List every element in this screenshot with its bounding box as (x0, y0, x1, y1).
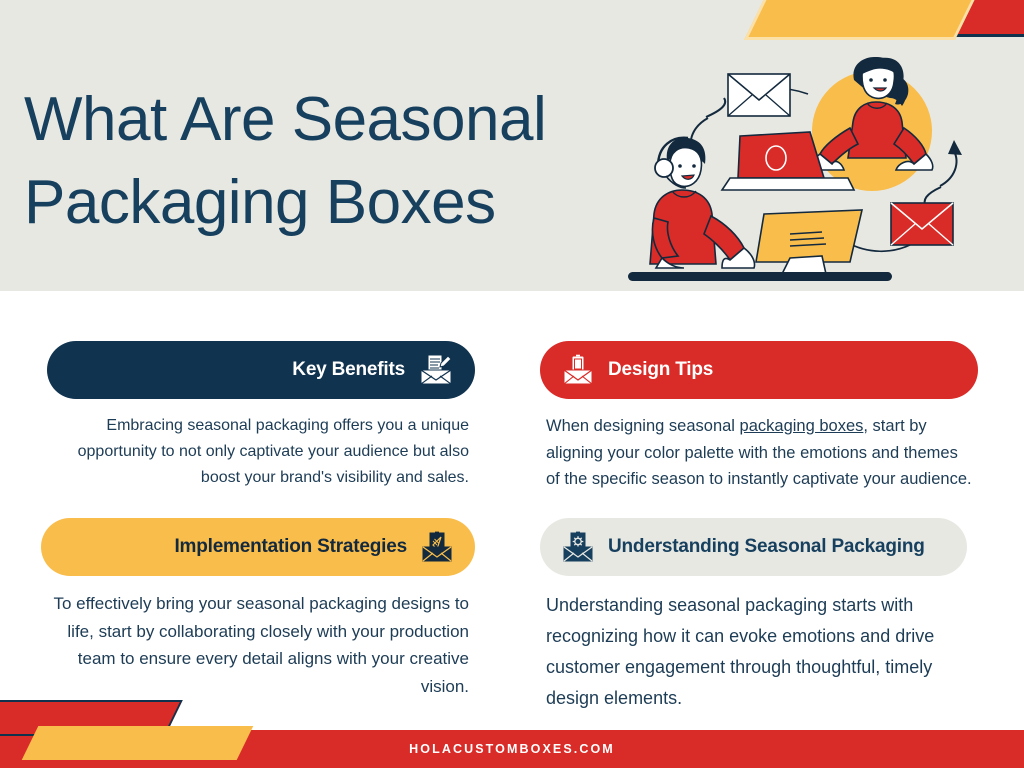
card-key-benefits-body: Embracing seasonal packaging offers you … (47, 413, 475, 491)
card-understanding-seasonal-packaging-body: Understanding seasonal packaging starts … (540, 590, 967, 714)
card-understanding-seasonal-packaging: Understanding Seasonal Packaging Underst… (540, 518, 967, 714)
card-implementation-strategies-title: Implementation Strategies (174, 536, 407, 558)
infographic-canvas: What Are Seasonal Packaging Boxes (0, 0, 1024, 768)
envelope-with-tag-icon (421, 531, 453, 563)
card-key-benefits-title: Key Benefits (292, 359, 405, 381)
card-key-benefits: Key Benefits Embracing seasonal packagin… (47, 341, 475, 491)
card-implementation-strategies-header[interactable]: Implementation Strategies (41, 518, 475, 576)
envelope-with-mobile-device-icon (562, 354, 594, 386)
card-understanding-seasonal-packaging-title: Understanding Seasonal Packaging (608, 536, 925, 558)
card-key-benefits-header[interactable]: Key Benefits (47, 341, 475, 399)
footer-website-text: HOLACUSTOMBOXES.COM (409, 742, 615, 756)
page-title: What Are Seasonal Packaging Boxes (24, 78, 674, 244)
card-design-tips-header[interactable]: Design Tips (540, 341, 978, 399)
card-design-tips-body: When designing seasonal packaging boxes,… (540, 413, 978, 493)
card-implementation-strategies: Implementation Strategies To effectively… (41, 518, 475, 700)
bottom-left-yellow-parallelogram-decoration (22, 726, 254, 760)
card-design-tips-title: Design Tips (608, 359, 713, 381)
design-tips-body-before: When designing seasonal (546, 417, 740, 435)
envelope-with-document-and-pencil-icon (419, 354, 453, 386)
card-design-tips: Design Tips When designing seasonal pack… (540, 341, 978, 493)
envelope-with-gear-icon (562, 531, 594, 563)
packaging-boxes-link[interactable]: packaging boxes (740, 417, 864, 435)
card-implementation-strategies-body: To effectively bring your seasonal packa… (41, 590, 475, 700)
card-understanding-seasonal-packaging-header[interactable]: Understanding Seasonal Packaging (540, 518, 967, 576)
